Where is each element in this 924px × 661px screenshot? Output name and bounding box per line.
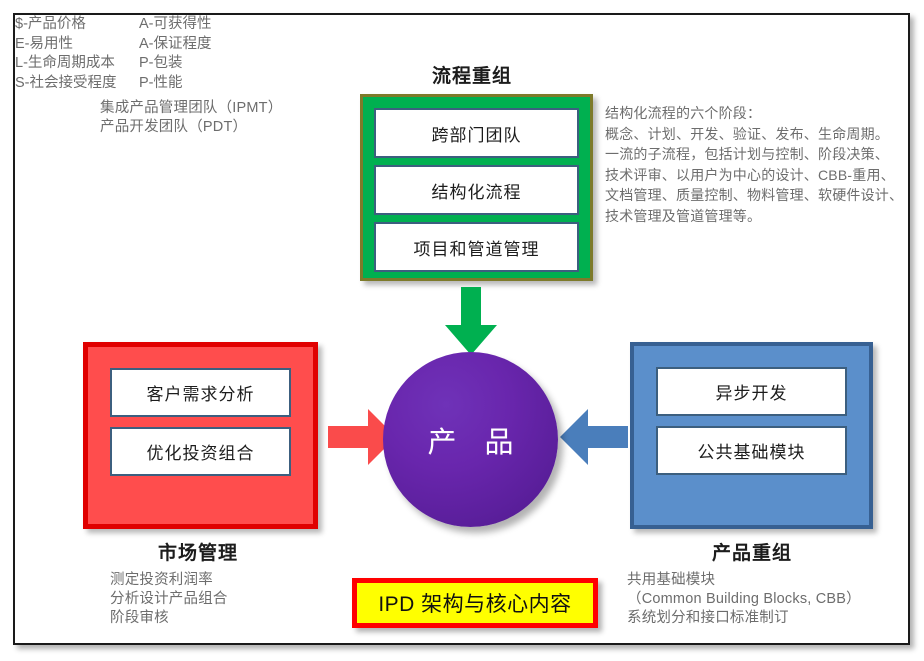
product-circle-label: 产 品 <box>417 419 523 461</box>
legend-left-3: S-社会接受程度 <box>15 74 133 94</box>
market-item-1[interactable]: 优化投资组合 <box>110 427 291 476</box>
arrow-left-icon <box>560 409 628 465</box>
ipd-title-banner: IPD 架构与核心内容 <box>352 578 598 628</box>
panel-product-reorganization: 异步开发 公共基础模块 <box>630 342 873 529</box>
diagram-frame: 集成产品管理团队（IPMT） 产品开发团队（PDT） $-产品价格 A-可获得性… <box>13 13 910 645</box>
note-teams: 集成产品管理团队（IPMT） 产品开发团队（PDT） <box>100 99 282 137</box>
prodreorg-item-1[interactable]: 公共基础模块 <box>656 426 847 475</box>
legend-right-0: A-可获得性 <box>139 15 908 35</box>
caption-market-management: 市场管理 <box>158 538 238 565</box>
market-item-0[interactable]: 客户需求分析 <box>110 368 291 417</box>
note-structured-process-stages: 结构化流程的六个阶段： 概念、计划、开发、验证、发布、生命周期。 一流的子流程，… <box>605 103 903 226</box>
panel-process-reorganization: 跨部门团队 结构化流程 项目和管道管理 <box>360 94 593 281</box>
process-item-0[interactable]: 跨部门团队 <box>374 108 579 158</box>
caption-product-reorganization: 产品重组 <box>712 538 792 565</box>
prodreorg-item-0[interactable]: 异步开发 <box>656 367 847 416</box>
note-market-management: 测定投资利润率 分析设计产品组合 阶段审核 <box>110 571 228 628</box>
legend-right-1: A-保证程度 <box>139 35 908 55</box>
process-item-2[interactable]: 项目和管道管理 <box>374 222 579 272</box>
process-item-1[interactable]: 结构化流程 <box>374 165 579 215</box>
legend-left-0: $-产品价格 <box>15 15 133 35</box>
caption-process-reorganization: 流程重组 <box>432 61 512 88</box>
legend-right-3: P-性能 <box>139 74 908 94</box>
arrow-down-icon <box>445 287 497 355</box>
legend-left-2: L-生命周期成本 <box>15 54 133 74</box>
note-product-reorganization: 共用基础模块 （Common Building Blocks, CBB） 系统划… <box>627 571 861 628</box>
product-circle: 产 品 <box>383 352 558 527</box>
legend-right-2: P-包装 <box>139 54 908 74</box>
legend-left-1: E-易用性 <box>15 35 133 55</box>
ipd-title-label: IPD 架构与核心内容 <box>378 588 571 618</box>
panel-market-management: 客户需求分析 优化投资组合 <box>83 342 318 529</box>
